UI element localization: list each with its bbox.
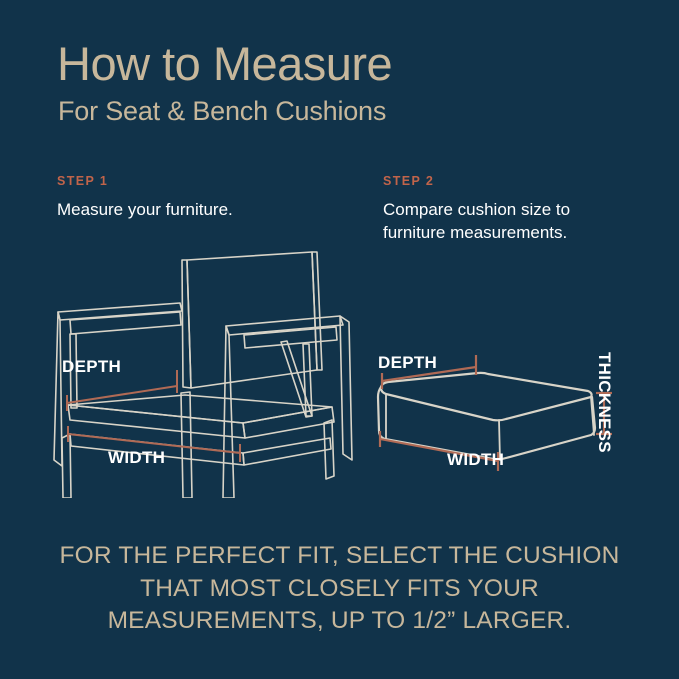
chair-width-label: WIDTH: [108, 448, 165, 468]
cushion-width-label: WIDTH: [447, 450, 504, 470]
step-1-eyebrow: STEP 1: [57, 174, 108, 188]
page-title: How to Measure: [57, 40, 392, 87]
chair-right-arm-far-post: [340, 316, 352, 460]
chair-seat-front-rail: [68, 405, 245, 438]
step-2-eyebrow: STEP 2: [383, 174, 434, 188]
chair-depth-label: DEPTH: [62, 357, 121, 377]
chair-left-arm-top: [58, 303, 182, 320]
chair-right-arm-near-post: [223, 326, 234, 498]
cushion-top-face: [381, 373, 592, 420]
page-subtitle: For Seat & Bench Cushions: [58, 96, 386, 127]
chair-backrest-left-edge: [182, 260, 191, 388]
chair-seat-right-rail: [243, 407, 334, 438]
chair-leg-front-left: [62, 434, 71, 498]
chair-left-arm-front-post: [54, 312, 62, 466]
step-2-description: Compare cushion size to furniture measur…: [383, 198, 648, 245]
chair-lower-right-stretcher: [243, 438, 331, 465]
step-1-description: Measure your furniture.: [57, 198, 357, 221]
cushion-outline: [378, 373, 595, 460]
footer-tagline: FOR THE PERFECT FIT, SELECT THE CUSHION …: [0, 540, 679, 638]
cushion-side-faces: [378, 387, 595, 459]
chair-left-arm-inner-rail: [70, 312, 181, 334]
chair-backrest-right-edge: [312, 252, 322, 370]
cushion-depth-label: DEPTH: [378, 353, 437, 373]
chair-leg-rear-hidden: [181, 392, 192, 498]
how-to-measure-infographic: How to Measure For Seat & Bench Cushions…: [0, 0, 679, 679]
cushion-thickness-label: THICKNESS: [594, 352, 614, 453]
